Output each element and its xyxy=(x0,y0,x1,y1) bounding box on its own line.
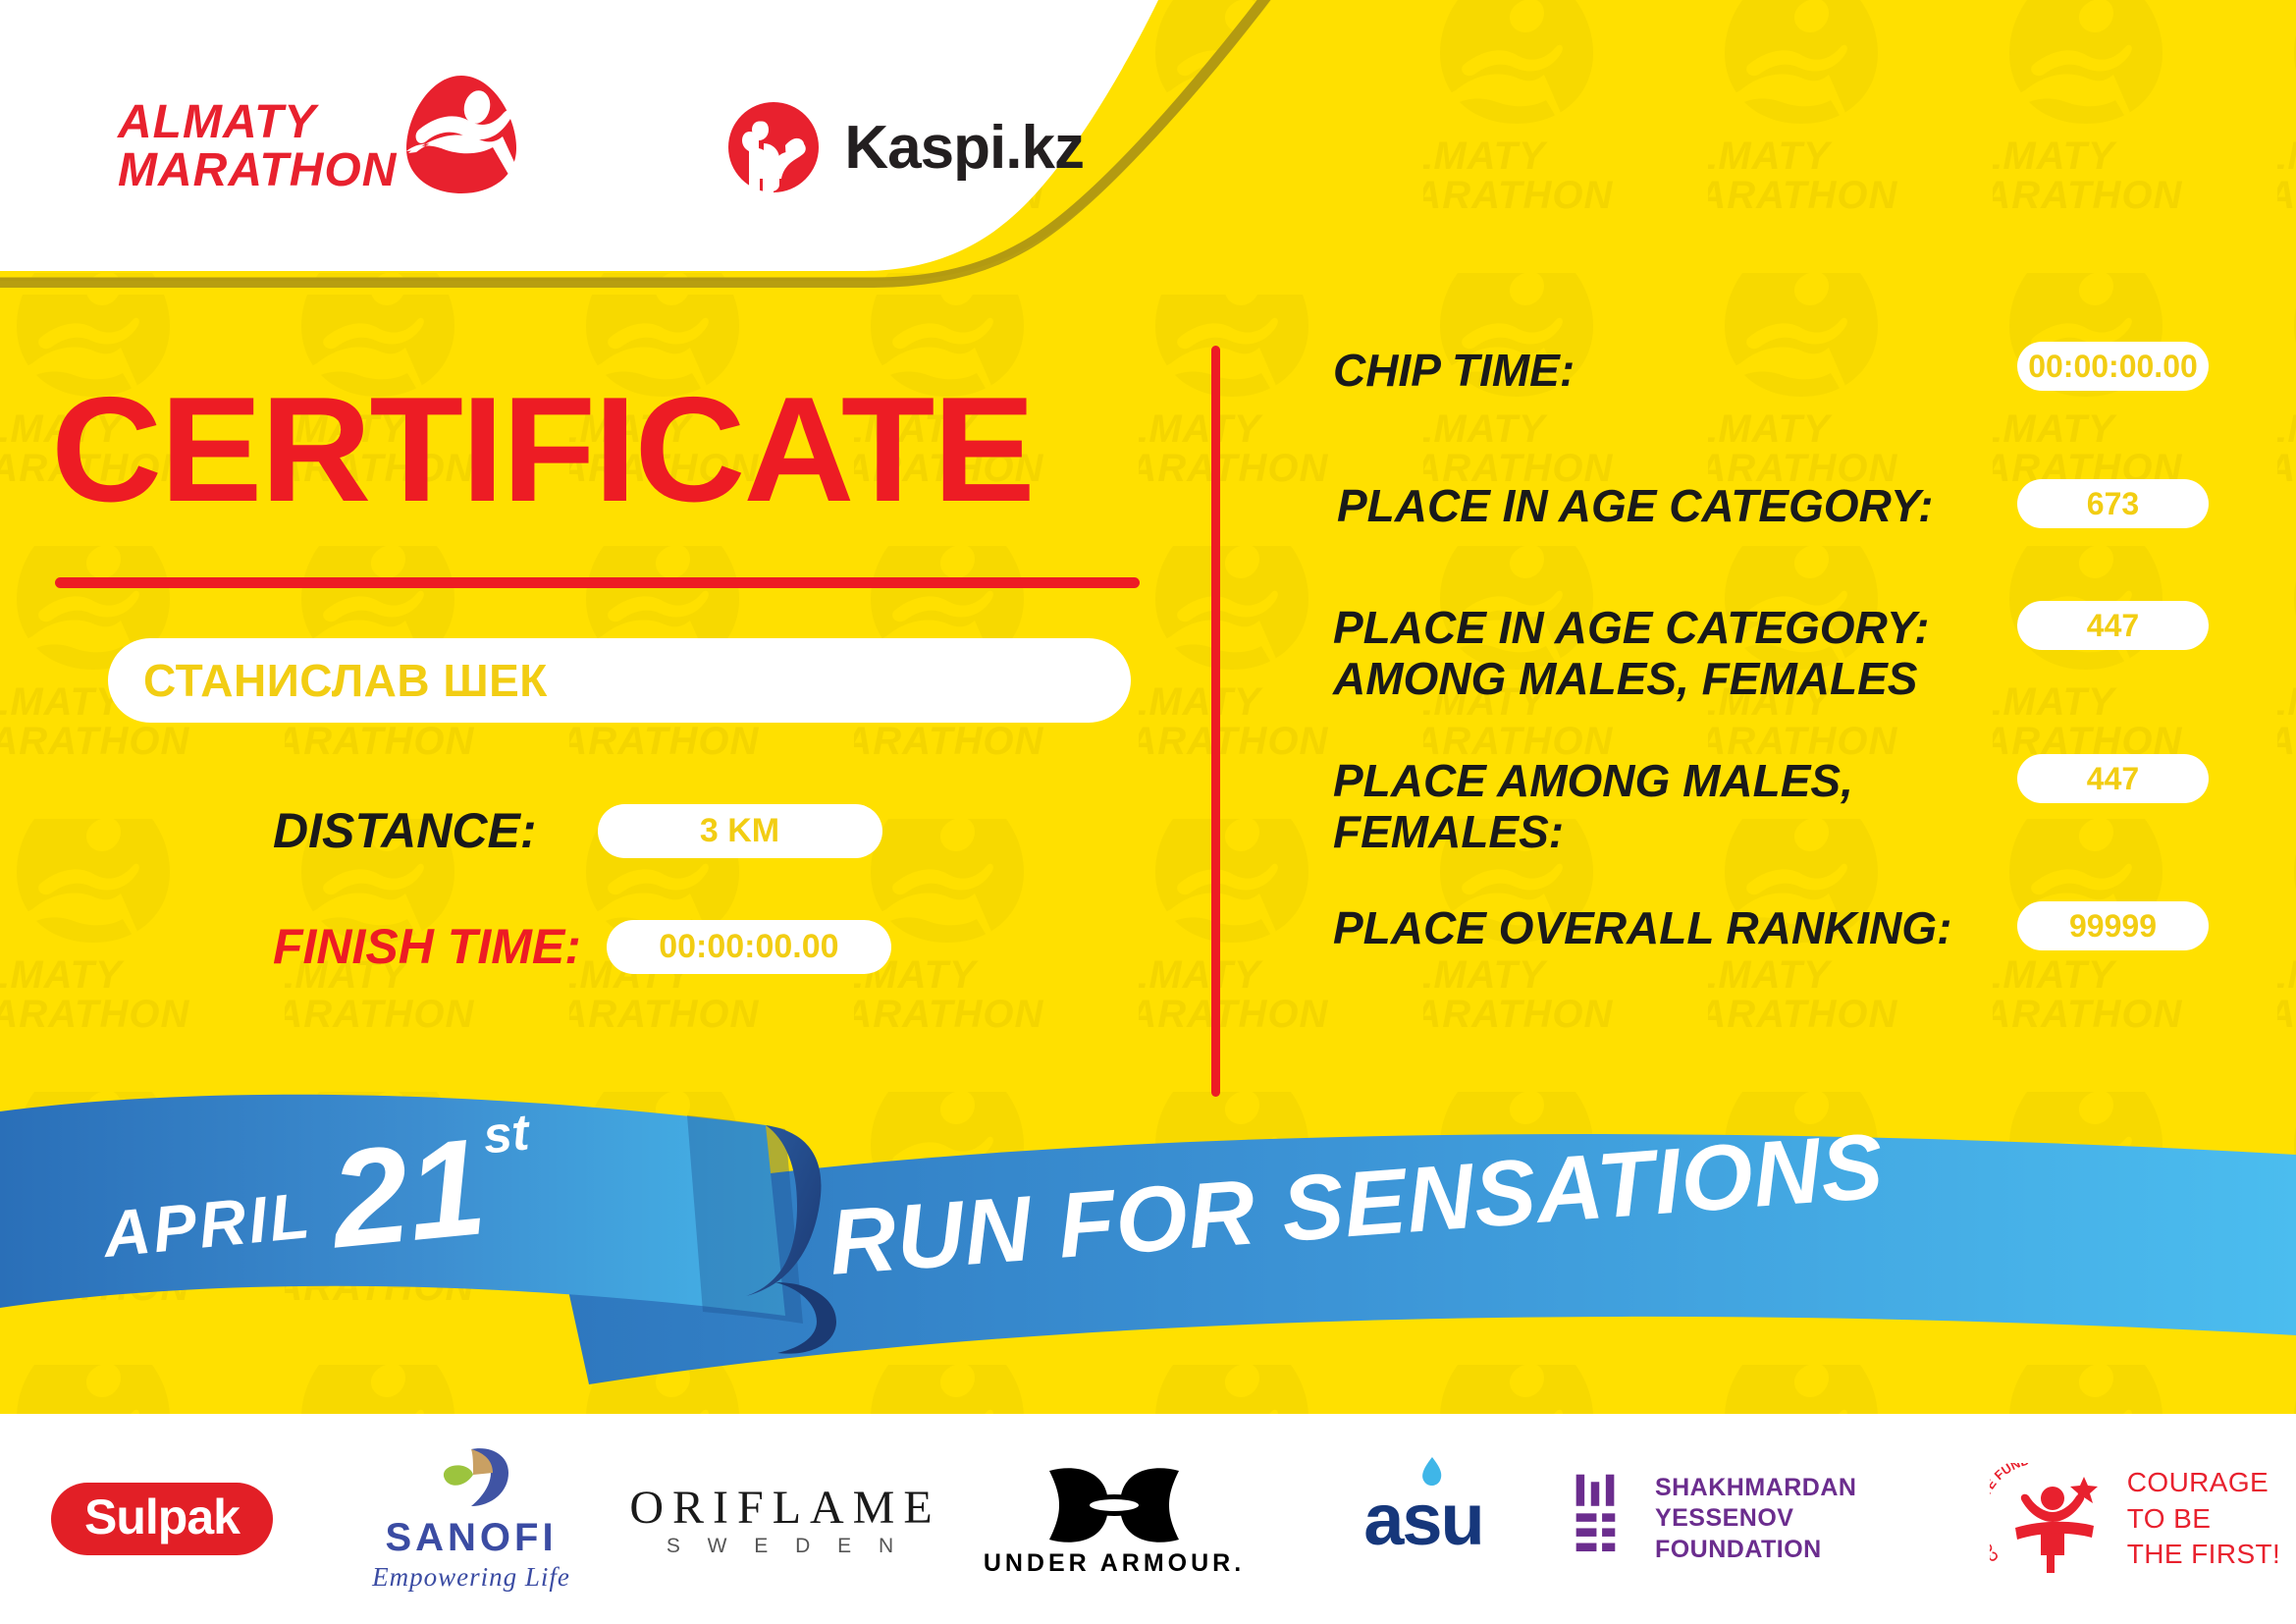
sulpak-wordmark: Sulpak xyxy=(51,1483,273,1555)
sponsor-yessenov-foundation: SHAKHMARDAN YESSENOV FOUNDATION xyxy=(1571,1445,1983,1593)
page-title: CERTIFICATE xyxy=(51,375,1034,524)
distance-label: DISTANCE: xyxy=(273,803,537,858)
place-among-gender-line2: FEMALES: xyxy=(1333,806,1564,857)
place-age-category-gender-line2: AMONG MALES, FEMALES xyxy=(1333,653,1917,704)
place-overall-row: PLACE OVERALL RANKING: 99999 xyxy=(1276,903,2209,954)
sanofi-wordmark: SANOFI xyxy=(385,1516,557,1560)
place-age-category-gender-value: 447 xyxy=(2017,601,2209,650)
header-logos: ALMATY MARATHON Kaspi.kz xyxy=(0,0,1178,295)
sponsor-courage-fund: CORPORATE FUND COURAGE TO BE THE FIRST! xyxy=(1983,1445,2287,1593)
sponsor-sulpak: Sulpak xyxy=(0,1445,324,1593)
kaspi-wordmark: Kaspi.kz xyxy=(844,113,1084,183)
almaty-marathon-line2: MARATHON xyxy=(118,147,397,195)
yessenov-line2: FOUNDATION xyxy=(1655,1535,1983,1565)
almaty-marathon-wordmark: ALMATY MARATHON xyxy=(118,99,397,195)
courage-line3: THE FIRST! xyxy=(2127,1537,2280,1572)
place-age-category-label: PLACE IN AGE CATEGORY: xyxy=(1337,481,1933,532)
finish-time-row: FINISH TIME: 00:00:00.00 xyxy=(273,919,891,974)
under-armour-wordmark: UNDER ARMOUR. xyxy=(984,1549,1245,1578)
sponsor-oriflame: ORIFLAME S W E D E N xyxy=(618,1445,952,1593)
sponsor-sanofi: SANOFI Empowering Life xyxy=(324,1445,618,1593)
almaty-marathon-line1: ALMATY xyxy=(118,99,397,147)
event-day-ordinal: st xyxy=(481,1103,532,1165)
oriflame-wordmark: ORIFLAME xyxy=(629,1481,940,1535)
asu-droplet-icon xyxy=(1415,1456,1446,1489)
courage-line2: TO BE xyxy=(2127,1501,2280,1537)
title-underline xyxy=(55,577,1140,588)
almaty-marathon-logo: ALMATY MARATHON xyxy=(118,99,520,195)
asu-wordmark: asu xyxy=(1363,1478,1483,1561)
chip-time-row: CHIP TIME: 00:00:00.00 xyxy=(1276,346,2209,397)
kaspi-logo: Kaspi.kz xyxy=(726,100,1084,194)
sponsor-under-armour: UNDER ARMOUR. xyxy=(952,1445,1276,1593)
finish-time-label: FINISH TIME: xyxy=(273,919,581,974)
yessenov-line1: SHAKHMARDAN YESSENOV xyxy=(1655,1473,1983,1535)
runner-name-field: СТАНИСЛАВ ШЕК xyxy=(108,638,1131,723)
kaspi-mark-icon xyxy=(726,100,821,194)
yessenov-wordmark: SHAKHMARDAN YESSENOV FOUNDATION xyxy=(1655,1473,1983,1565)
distance-row: DISTANCE: 3 KM xyxy=(273,803,882,858)
sponsor-asu: asu xyxy=(1276,1445,1571,1593)
runner-drop-icon xyxy=(402,74,520,195)
sponsors-strip: Sulpak SANOFI Empowering Life ORIFLAME S… xyxy=(0,1414,2296,1624)
distance-value: 3 KM xyxy=(598,804,882,858)
under-armour-mark-icon xyxy=(1036,1461,1193,1549)
place-among-gender-line1: PLACE AMONG MALES, xyxy=(1333,755,1853,806)
chip-time-value: 00:00:00.00 xyxy=(2017,342,2209,391)
place-age-category-row: PLACE IN AGE CATEGORY: 673 xyxy=(1276,481,2209,532)
place-age-category-gender-line1: PLACE IN AGE CATEGORY: xyxy=(1333,602,1929,653)
place-overall-label: PLACE OVERALL RANKING: xyxy=(1333,903,1951,954)
place-among-gender-label: PLACE AMONG MALES, FEMALES: xyxy=(1333,756,1853,857)
event-day: 21 xyxy=(327,1130,490,1257)
certificate-root: ALMATY MARATHON ALMATY MARATHON xyxy=(0,0,2296,1624)
oriflame-tagline: S W E D E N xyxy=(667,1535,904,1558)
sanofi-mark-icon xyxy=(426,1445,516,1516)
place-among-gender-value: 447 xyxy=(2017,754,2209,803)
yessenov-mark-icon xyxy=(1571,1470,1637,1568)
svg-text:CORPORATE FUND: CORPORATE FUND xyxy=(1990,1463,2031,1565)
finish-time-value: 00:00:00.00 xyxy=(607,920,891,974)
sanofi-tagline: Empowering Life xyxy=(372,1562,570,1593)
courage-fund-mark-icon: CORPORATE FUND xyxy=(1990,1463,2117,1576)
place-among-gender-row: PLACE AMONG MALES, FEMALES: 447 xyxy=(1276,756,2209,857)
place-age-category-gender-label: PLACE IN AGE CATEGORY: AMONG MALES, FEMA… xyxy=(1333,603,1929,704)
chip-time-label: CHIP TIME: xyxy=(1333,346,1575,397)
place-overall-value: 99999 xyxy=(2017,901,2209,950)
courage-fund-arc-text: CORPORATE FUND xyxy=(1990,1463,2031,1565)
courage-line1: COURAGE xyxy=(2127,1465,2280,1500)
place-age-category-value: 673 xyxy=(2017,479,2209,528)
column-divider xyxy=(1211,346,1220,1097)
courage-fund-wordmark: COURAGE TO BE THE FIRST! xyxy=(2127,1465,2280,1572)
event-month: APRIL xyxy=(100,1177,315,1272)
place-age-category-gender-row: PLACE IN AGE CATEGORY: AMONG MALES, FEMA… xyxy=(1276,603,2209,704)
